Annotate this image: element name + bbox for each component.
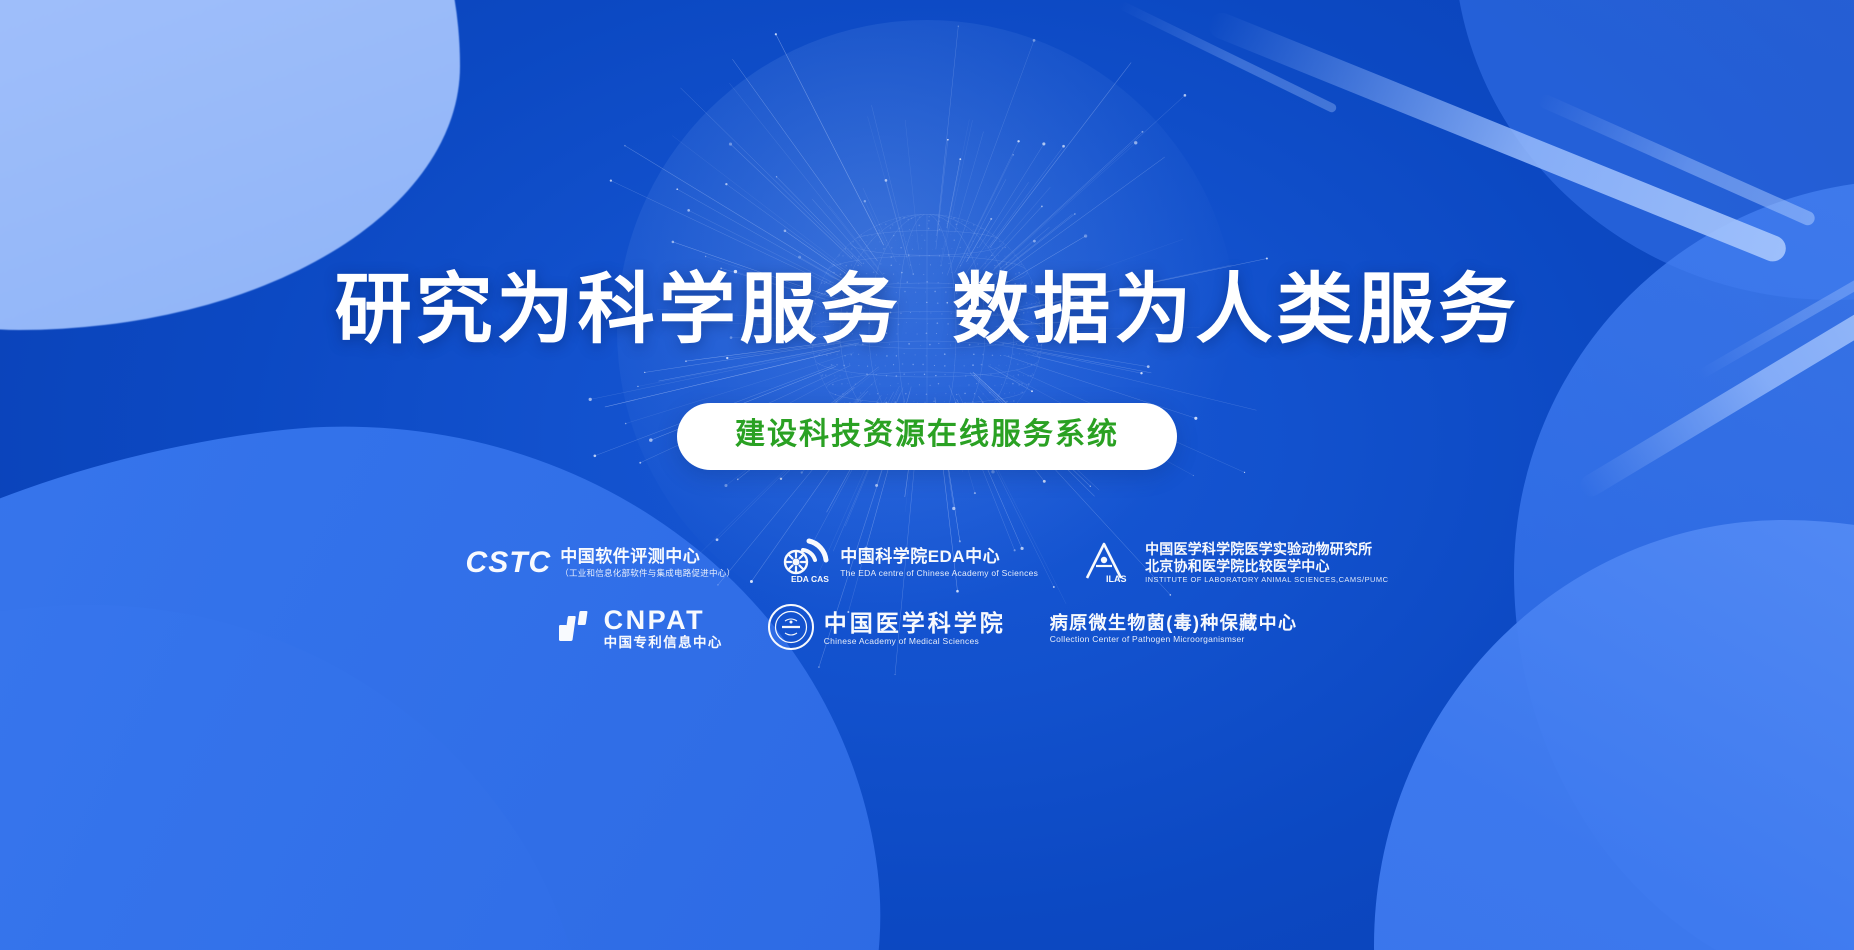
cams-subtitle-en: Chinese Academy of Medical Sciences: [824, 636, 1006, 647]
page-title: 研究为科学服务 数据为人类服务: [335, 272, 1520, 349]
partner-logo-cstc[interactable]: CSTC 中国软件评测中心 （工业和信息化部软件与集成电路促进中心）: [466, 547, 736, 578]
ilas-name-cn-line1: 中国医学科学院医学实验动物研究所: [1145, 541, 1388, 558]
cnpat-name-cn: 中国专利信息中心: [604, 634, 723, 652]
eda-cas-name-cn: 中国科学院EDA中心: [840, 547, 1038, 567]
partner-logos: CSTC 中国软件评测中心 （工业和信息化部软件与集成电路促进中心）: [466, 538, 1389, 656]
pathogen-center-subtitle-en: Collection Center of Pathogen Microorgan…: [1050, 634, 1298, 645]
partner-logo-pathogen-center[interactable]: 病原微生物菌(毒)种保藏中心 Collection Center of Path…: [1050, 613, 1298, 646]
svg-text:EDA CAS: EDA CAS: [791, 574, 829, 584]
partner-logo-row-1: CSTC 中国软件评测中心 （工业和信息化部软件与集成电路促进中心）: [466, 538, 1389, 589]
svg-text:ILAS: ILAS: [1106, 574, 1127, 584]
cams-text: 中国医学科学院 Chinese Academy of Medical Scien…: [824, 611, 1006, 647]
cams-seal-icon: [767, 603, 815, 656]
cstc-wordmark-icon: CSTC: [466, 548, 552, 578]
eda-cas-subtitle-en: The EDA centre of Chinese Academy of Sci…: [840, 568, 1038, 579]
eda-cas-emblem-icon: EDA CAS: [779, 538, 831, 589]
hero-banner: 研究为科学服务 数据为人类服务 建设科技资源在线服务系统 CSTC 中国软件评测…: [0, 0, 1854, 950]
partner-logo-cams[interactable]: 中国医学科学院 Chinese Academy of Medical Scien…: [767, 603, 1006, 656]
ilas-name-cn-line2: 北京协和医学院比较医学中心: [1145, 558, 1388, 575]
cnpat-bars-icon: [557, 608, 595, 649]
partner-logo-row-2: CNPAT 中国专利信息中心: [557, 603, 1298, 656]
partner-logo-ilas[interactable]: ILAS 中国医学科学院医学实验动物研究所 北京协和医学院比较医学中心 INST…: [1082, 538, 1388, 589]
cstc-text: 中国软件评测中心 （工业和信息化部软件与集成电路促进中心）: [560, 547, 735, 578]
ilas-subtitle-en: INSTITUTE OF LABORATORY ANIMAL SCIENCES,…: [1145, 575, 1388, 585]
cnpat-text: CNPAT 中国专利信息中心: [604, 606, 723, 652]
cams-name-cn: 中国医学科学院: [824, 611, 1006, 636]
tagline-pill-button[interactable]: 建设科技资源在线服务系统: [677, 403, 1177, 470]
banner-content: 研究为科学服务 数据为人类服务 建设科技资源在线服务系统 CSTC 中国软件评测…: [0, 0, 1854, 950]
ilas-emblem-icon: ILAS: [1082, 538, 1136, 589]
pathogen-center-text: 病原微生物菌(毒)种保藏中心 Collection Center of Path…: [1050, 613, 1298, 646]
cnpat-abbr: CNPAT: [604, 606, 723, 634]
eda-cas-text: 中国科学院EDA中心 The EDA centre of Chinese Aca…: [840, 547, 1038, 578]
cstc-name-cn: 中国软件评测中心: [560, 547, 735, 567]
partner-logo-cnpat[interactable]: CNPAT 中国专利信息中心: [557, 606, 723, 652]
cstc-subtitle-cn: （工业和信息化部软件与集成电路促进中心）: [560, 568, 735, 579]
pathogen-center-name-cn: 病原微生物菌(毒)种保藏中心: [1050, 613, 1298, 635]
partner-logo-eda-cas[interactable]: EDA CAS 中国科学院EDA中心 The EDA centre of Chi…: [779, 538, 1038, 589]
ilas-text: 中国医学科学院医学实验动物研究所 北京协和医学院比较医学中心 INSTITUTE…: [1145, 541, 1388, 584]
